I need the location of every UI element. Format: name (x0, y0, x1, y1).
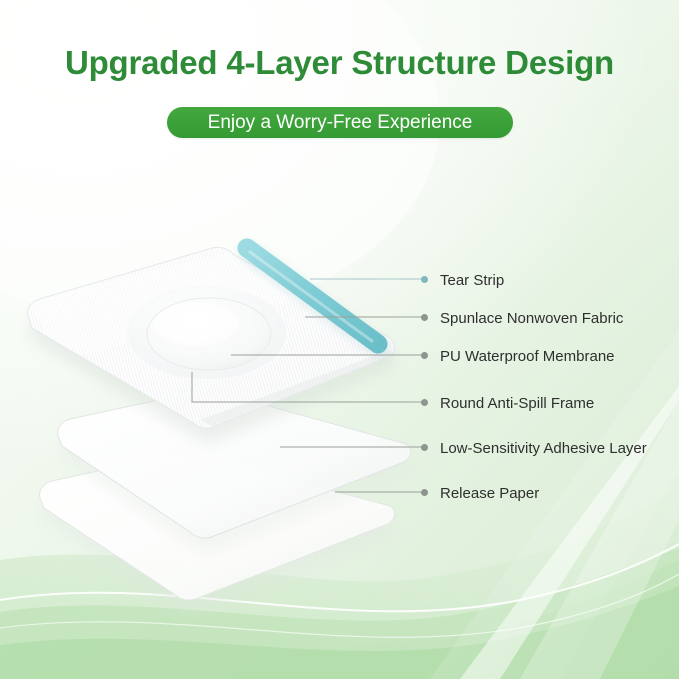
callout-dot-5 (421, 444, 428, 451)
callout-label-spunlace-nonwoven-fabric: Spunlace Nonwoven Fabric (440, 310, 623, 327)
callout-label-round-anti-spill-frame: Round Anti-Spill Frame (440, 395, 594, 412)
callout-dot-2 (421, 314, 428, 321)
callout-label-release-paper: Release Paper (440, 485, 539, 502)
callout-label-tear-strip: Tear Strip (440, 272, 504, 289)
callout-dot-3 (421, 352, 428, 359)
callout-leader-lines (0, 0, 679, 679)
infographic-canvas: Upgraded 4-Layer Structure Design Enjoy … (0, 0, 679, 679)
callout-dot-1 (421, 276, 428, 283)
callout-label-pu-waterproof-membrane: PU Waterproof Membrane (440, 348, 615, 365)
callout-dot-4 (421, 399, 428, 406)
callout-dot-6 (421, 489, 428, 496)
callout-label-low-sensitivity-adhesive-layer: Low-Sensitivity Adhesive Layer (440, 440, 647, 457)
